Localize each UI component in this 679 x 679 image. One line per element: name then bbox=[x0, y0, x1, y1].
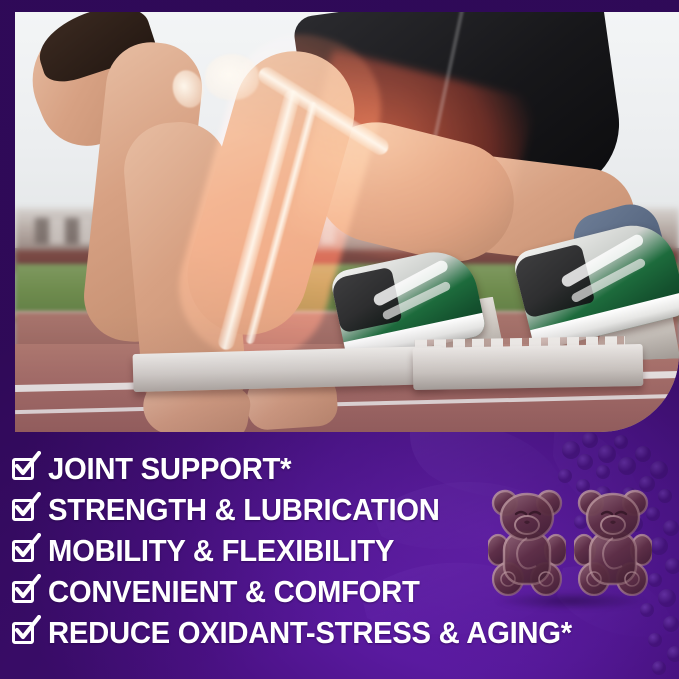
check-mark-icon bbox=[13, 533, 41, 561]
checkbox-checked-icon bbox=[12, 497, 39, 524]
benefit-label: REDUCE OXIDANT-STRESS & AGING* bbox=[48, 616, 572, 650]
benefit-item-reduce-oxidant-stress-aging: REDUCE OXIDANT-STRESS & AGING* bbox=[12, 614, 662, 652]
benefit-label: CONVENIENT & COMFORT bbox=[48, 575, 420, 609]
check-mark-icon bbox=[13, 492, 41, 520]
starting-block-rail bbox=[413, 344, 644, 390]
benefit-label: MOBILITY & FLEXIBILITY bbox=[48, 534, 394, 568]
benefit-label: JOINT SUPPORT* bbox=[48, 452, 291, 486]
benefit-item-joint-support: JOINT SUPPORT* bbox=[12, 450, 662, 488]
benefit-item-convenient-comfort: CONVENIENT & COMFORT bbox=[12, 573, 662, 611]
starting-block-plate bbox=[133, 346, 444, 392]
benefit-item-mobility-flexibility: MOBILITY & FLEXIBILITY bbox=[12, 532, 662, 570]
xray-knee-joint bbox=[205, 54, 259, 100]
shoe-heel-right bbox=[513, 244, 595, 319]
benefit-item-strength-lubrication: STRENGTH & LUBRICATION bbox=[12, 491, 662, 529]
checkbox-checked-icon bbox=[12, 620, 39, 647]
banner-root: JOINT SUPPORT* STRENGTH & LUBRICATION MO… bbox=[0, 0, 679, 679]
hero-photo-inner bbox=[15, 12, 679, 432]
check-mark-icon bbox=[13, 615, 41, 643]
checkbox-checked-icon bbox=[12, 579, 39, 606]
check-mark-icon bbox=[13, 451, 41, 479]
checkbox-checked-icon bbox=[12, 538, 39, 565]
photo-lane-line-2 bbox=[15, 394, 679, 414]
benefit-label: STRENGTH & LUBRICATION bbox=[48, 493, 440, 527]
checkbox-checked-icon bbox=[12, 456, 39, 483]
benefits-list: JOINT SUPPORT* STRENGTH & LUBRICATION MO… bbox=[12, 450, 662, 655]
check-mark-icon bbox=[13, 574, 41, 602]
hero-photo bbox=[15, 12, 679, 432]
shoe-heel-left bbox=[330, 267, 403, 334]
